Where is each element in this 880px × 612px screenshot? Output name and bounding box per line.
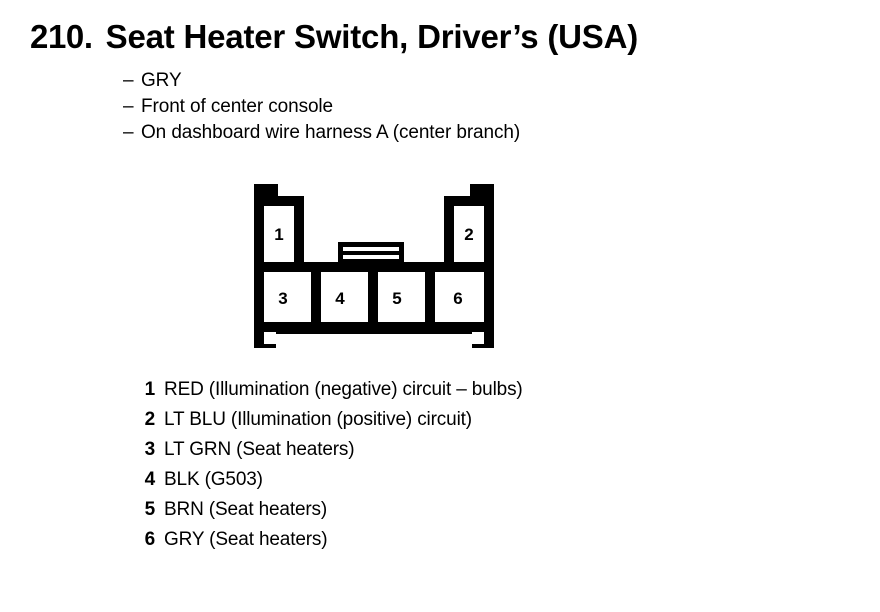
pin-description: BRN (Seat heaters) <box>164 499 327 520</box>
dash-bullet: – <box>123 94 141 120</box>
pin-number: 3 <box>133 435 155 465</box>
pin-legend: 1RED (Illumination (negative) circuit – … <box>133 375 833 555</box>
cavity-divider-4-5 <box>368 272 378 324</box>
pin-description: LT GRN (Seat heaters) <box>164 439 354 460</box>
center-latch <box>338 242 404 264</box>
pin-description: LT BLU (Illumination (positive) circuit) <box>164 409 472 430</box>
pin-legend-row: 6GRY (Seat heaters) <box>133 525 833 555</box>
pin-legend-row: 4BLK (G503) <box>133 465 833 495</box>
cavity-divider-5-6 <box>425 272 435 324</box>
pin-legend-row: 2LT BLU (Illumination (positive) circuit… <box>133 405 833 435</box>
cavity-label-5: 5 <box>392 289 401 308</box>
cavity-label-4: 4 <box>335 289 345 308</box>
pin-legend-row: 3LT GRN (Seat heaters) <box>133 435 833 465</box>
pin-number: 4 <box>133 465 155 495</box>
attribute-item: –GRY <box>123 68 823 94</box>
pin-legend-row: 1RED (Illumination (negative) circuit – … <box>133 375 833 405</box>
connector-diagram: 1 2 3 4 5 6 <box>250 182 498 350</box>
dash-bullet: – <box>123 68 141 94</box>
page-title: 210.Seat Heater Switch, Driver’s (USA) <box>30 18 850 60</box>
attribute-item: –Front of center console <box>123 94 823 120</box>
pin-legend-row: 5BRN (Seat heaters) <box>133 495 833 525</box>
attribute-text: GRY <box>141 70 182 91</box>
attribute-text: Front of center console <box>141 96 333 117</box>
latch-slot-lower <box>343 255 399 259</box>
cavity-label-2: 2 <box>464 225 473 244</box>
pin-description: RED (Illumination (negative) circuit – b… <box>164 379 523 400</box>
pin-number: 2 <box>133 405 155 435</box>
latch-slot-upper <box>343 247 399 251</box>
connector-right-wall <box>484 184 494 334</box>
pin-description: GRY (Seat heaters) <box>164 529 327 550</box>
cavity-label-3: 3 <box>278 289 287 308</box>
dash-bullet: – <box>123 120 141 146</box>
cavity-divider-3-4 <box>311 272 321 324</box>
attribute-item: –On dashboard wire harness A (center bra… <box>123 120 823 146</box>
cavity-label-1: 1 <box>274 225 283 244</box>
pin-description: BLK (G503) <box>164 469 263 490</box>
connector-left-wall <box>254 184 264 334</box>
pin-number: 1 <box>133 375 155 405</box>
attribute-text: On dashboard wire harness A (center bran… <box>141 122 520 143</box>
foot-right-inner <box>472 332 484 344</box>
item-title: Seat Heater Switch, Driver’s (USA) <box>106 18 638 55</box>
item-number: 210. <box>30 18 93 55</box>
foot-left-inner <box>264 332 276 344</box>
pin-number: 5 <box>133 495 155 525</box>
pin-number: 6 <box>133 525 155 555</box>
attribute-list: –GRY –Front of center console –On dashbo… <box>123 68 823 146</box>
cavity-label-6: 6 <box>453 289 462 308</box>
